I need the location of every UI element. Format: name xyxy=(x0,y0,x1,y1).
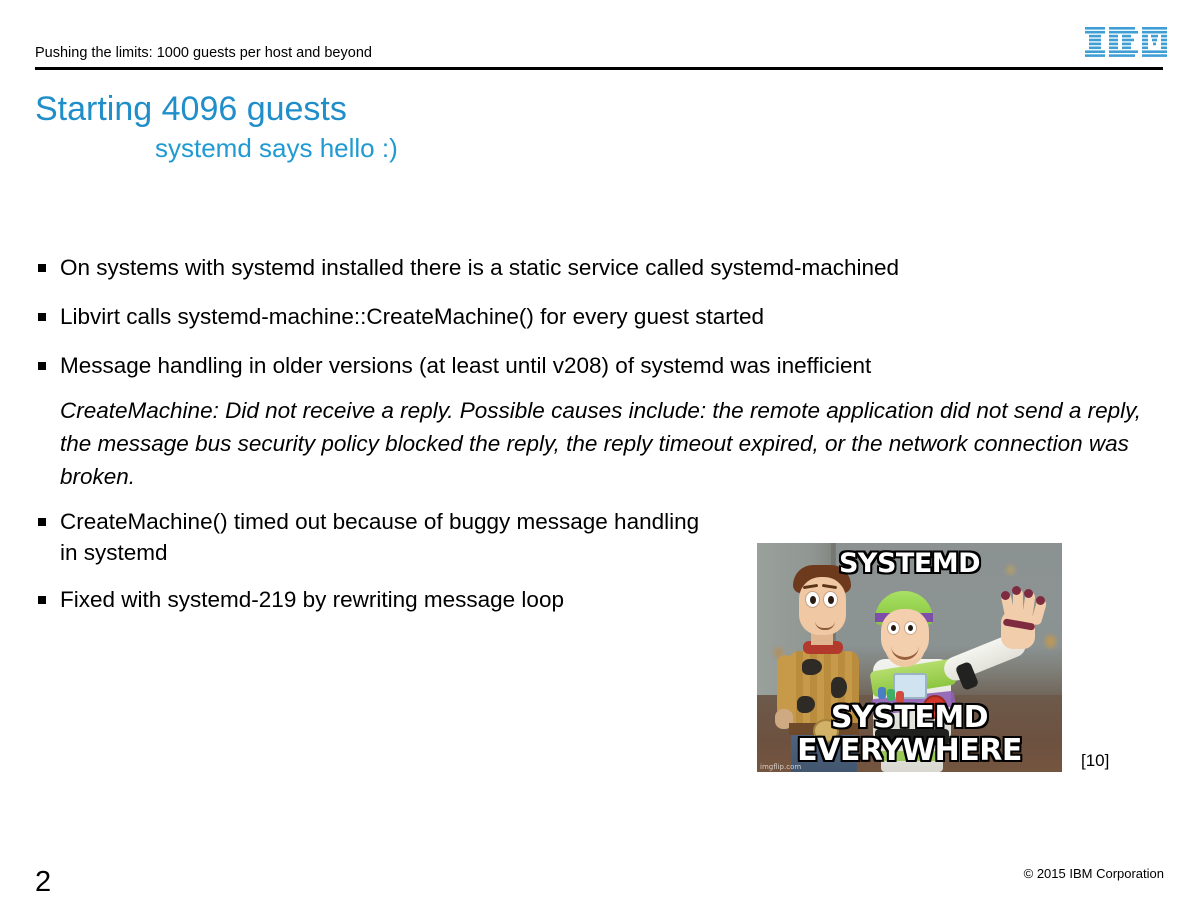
woody-pupil xyxy=(810,596,816,604)
square-bullet-icon xyxy=(38,362,46,370)
deck-title: Pushing the limits: 1000 guests per host… xyxy=(35,45,372,61)
square-bullet-icon xyxy=(38,264,46,272)
meme-watermark: imgflip.com xyxy=(760,763,801,771)
square-bullet-icon xyxy=(38,596,46,604)
spacer xyxy=(35,283,1165,301)
buzz-pupil xyxy=(908,625,913,631)
bullet-label: On systems with systemd installed there … xyxy=(60,252,1165,283)
buzz-pupil xyxy=(891,625,896,631)
spacer xyxy=(35,381,1165,394)
bullet-item: On systems with systemd installed there … xyxy=(35,252,1165,283)
page-title: Starting 4096 guests xyxy=(35,88,1135,130)
meme-figure: SYSTEMD SYSTEMD EVERYWHERE imgflip.com xyxy=(757,543,1062,772)
square-bullet-icon xyxy=(38,518,46,526)
spacer xyxy=(35,332,1165,350)
bullet-item: Libvirt calls systemd-machine::CreateMac… xyxy=(35,301,1165,332)
buzz-fingertip xyxy=(1012,586,1021,595)
copyright-notice: © 2015 IBM Corporation xyxy=(1024,866,1164,882)
buzz-fingertip xyxy=(1001,591,1010,600)
buzz-button xyxy=(878,687,886,699)
meme-top-caption: SYSTEMD xyxy=(757,549,1062,579)
toy-story-meme-image: SYSTEMD SYSTEMD EVERYWHERE imgflip.com xyxy=(757,543,1062,772)
figure-reference-marker: [10] xyxy=(1081,751,1109,771)
title-block: Starting 4096 guests systemd says hello … xyxy=(35,88,1135,164)
ibm-logo-icon xyxy=(1085,27,1167,57)
bullet-label: Message handling in older versions (at l… xyxy=(60,350,1165,381)
error-message-quote: CreateMachine: Did not receive a reply. … xyxy=(35,394,1165,493)
page-subtitle: systemd says hello :) xyxy=(155,132,1135,164)
buzz-fingertip xyxy=(1036,596,1045,605)
page-number: 2 xyxy=(35,866,51,898)
woody-pupil xyxy=(828,596,834,604)
buzz-fingertip xyxy=(1024,589,1033,598)
bullet-item: Message handling in older versions (at l… xyxy=(35,350,1165,381)
bullet-label: CreateMachine() timed out because of bug… xyxy=(60,506,720,568)
square-bullet-icon xyxy=(38,313,46,321)
spacer xyxy=(35,493,1165,506)
bullet-label: Libvirt calls systemd-machine::CreateMac… xyxy=(60,301,1165,332)
slide-header: Pushing the limits: 1000 guests per host… xyxy=(0,0,1200,72)
meme-bottom-caption: SYSTEMD EVERYWHERE xyxy=(757,701,1062,767)
header-divider xyxy=(35,67,1163,70)
